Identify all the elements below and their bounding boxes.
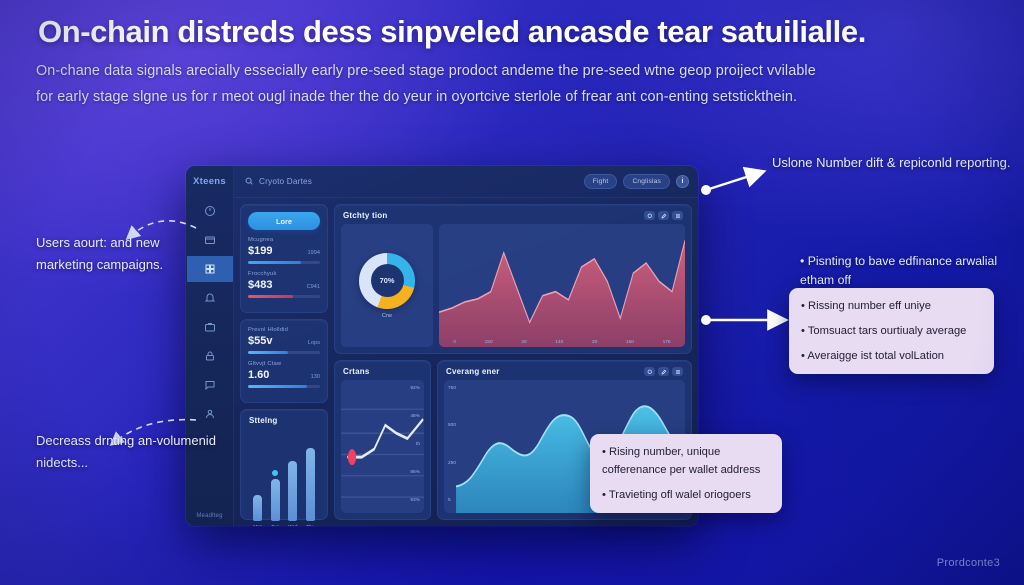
callout-right: • Rissing number eff uniye • Tomsuact ta… — [789, 288, 994, 374]
kpi-value: $55v — [248, 335, 272, 347]
sidebar-footer: Meadlteg — [196, 513, 222, 526]
panel-actions — [644, 367, 683, 376]
bar-label: Thu — [306, 524, 314, 526]
zoom-icon[interactable] — [644, 211, 655, 220]
callout-bullet: • Averaigge ist total volLation — [801, 347, 982, 365]
bar-highlight-dot — [272, 470, 278, 476]
line-y-axis: 92% 48% th 86% 93% — [410, 386, 420, 503]
subtitle-line-1: On-chane data signals arecially essecial… — [36, 58, 986, 84]
panel-title: Crtans — [343, 367, 370, 376]
bar-column: Mon — [251, 486, 264, 526]
dashboard-topbar: Cryoto Dartes Fight Cnglislas i — [234, 166, 698, 198]
panel-line-chart: Crtans — [334, 360, 431, 520]
kpi-value: 1.60 — [248, 369, 269, 381]
axis-tick: 30 — [521, 340, 526, 345]
menu-icon[interactable] — [672, 211, 683, 220]
kpi-label: Frocchyuk — [248, 271, 320, 277]
arrow-origin-dot — [701, 315, 711, 325]
annotation-pointing: • Pisnting to bave edfinance arwalial et… — [800, 252, 1015, 290]
app-brand: Xteens — [193, 176, 226, 187]
bar-chart: Mon Tue Wed Thu — [241, 429, 327, 526]
bar-column: Thu — [304, 439, 317, 526]
search-input[interactable]: Cryoto Dartes — [244, 173, 578, 191]
donut-center-value: 70% — [371, 264, 404, 297]
sidebar-item-bell[interactable] — [187, 285, 233, 311]
axis-tick: 0 — [453, 340, 456, 345]
info-icon[interactable]: i — [676, 175, 689, 188]
bar-label: Mon — [253, 524, 262, 526]
zoom-icon[interactable] — [644, 367, 655, 376]
sidebar-item-power[interactable] — [187, 198, 233, 224]
watermark: Prordconte3 — [937, 557, 1000, 569]
search-icon — [244, 173, 254, 191]
donut-chart: 70% Cne — [341, 224, 433, 347]
kpi-subvalue: 1994 — [308, 250, 320, 256]
line-marker — [348, 449, 356, 465]
panel-bar-chart: Sttelng Mon Tue Wed Thu — [240, 409, 328, 520]
edit-icon[interactable] — [658, 367, 669, 376]
callout-bullet: • Tomsuact tars ourtiualy average — [801, 322, 982, 340]
hero-x-axis: 0 150 30 140 30 150 175 — [439, 340, 685, 345]
sidebar-item-briefcase[interactable] — [187, 314, 233, 340]
kpi-progress-bar — [248, 261, 320, 264]
kpi-subvalue: 130 — [311, 374, 320, 380]
axis-tick: 150 — [485, 340, 493, 345]
arrow-to-unique-note — [706, 172, 762, 190]
bar-label: Tue — [271, 524, 279, 526]
kpi-progress-bar — [248, 385, 320, 388]
axis-tick: 93% — [410, 498, 420, 503]
hero-area-chart: 0 150 30 140 30 150 175 — [439, 224, 685, 347]
panel-title: Sttelng — [249, 416, 278, 425]
arrow-origin-dot — [701, 185, 711, 195]
page-title: On-chain distreds dess sinpveled ancasde… — [38, 12, 998, 51]
annotation-unique: Uslone Number dift & repiconld reporting… — [772, 152, 1012, 174]
slide-background: On-chain distreds dess sinpveled ancasde… — [0, 0, 1024, 585]
axis-tick: 175 — [663, 340, 671, 345]
sidebar-item-lock[interactable] — [187, 343, 233, 369]
kpi-value: $483 — [248, 279, 272, 291]
kpi-label: Prevol Hlolldid — [248, 327, 320, 333]
kpi-subvalue: Lops — [308, 340, 320, 346]
edit-icon[interactable] — [658, 211, 669, 220]
kpi-progress-bar — [248, 351, 320, 354]
axis-tick: 92% — [410, 386, 420, 391]
stat-card-primary: Lore Mcugnea $199 1994 Frocchyuk $483 C9… — [240, 204, 328, 313]
axis-tick: 500 — [448, 423, 456, 428]
sidebar-item-chat[interactable] — [187, 372, 233, 398]
bar-label: Wed — [288, 524, 297, 526]
kpi-value: $199 — [248, 245, 272, 257]
hero-area-fill — [439, 240, 685, 347]
axis-tick: 86% — [410, 470, 420, 475]
bar-column: Wed — [286, 452, 299, 526]
callout-bullet: • Rissing number eff uniye — [801, 297, 982, 315]
axis-tick: 150 — [626, 340, 634, 345]
axis-tick: 5 — [448, 498, 456, 503]
panel-actions — [644, 211, 683, 220]
kpi-label: Gltvvjt Ctaw — [248, 361, 320, 367]
subtitle-line-2: for early stage slgne us for r meot ougl… — [36, 84, 986, 110]
area-y-axis: 750 500 250 5 — [448, 386, 456, 503]
sidebar-item-user[interactable] — [187, 401, 233, 427]
panel-hero-chart: Gtchty tion 70% — [334, 204, 692, 354]
axis-tick: 48% — [410, 414, 420, 419]
donut-caption: Cne — [382, 313, 392, 319]
kpi-label: Mcugnea — [248, 237, 320, 243]
page-subtitle: On-chane data signals arecially essecial… — [36, 58, 986, 110]
line-chart: 92% 48% th 86% 93% — [341, 380, 424, 513]
callout-bullet: • Rising number, unique cofferenance per… — [602, 443, 770, 479]
kpi-subvalue: C941 — [307, 284, 320, 290]
menu-icon[interactable] — [672, 367, 683, 376]
axis-tick: th — [416, 442, 420, 447]
filter-pill-right[interactable]: Cnglislas — [623, 174, 670, 189]
axis-tick: 140 — [555, 340, 563, 345]
filter-pill-left[interactable]: Fight — [584, 174, 618, 189]
axis-tick: 250 — [448, 461, 456, 466]
stat-card-secondary: Prevol Hlolldid $55v Lops Gltvvjt Ctaw 1… — [240, 319, 328, 403]
axis-tick: 30 — [592, 340, 597, 345]
callout-bullet: • Travieting ofl walel oriogoers — [602, 486, 770, 504]
donut-ring: 70% — [359, 253, 415, 309]
callout-bottom: • Rising number, unique cofferenance per… — [590, 434, 782, 513]
kpi-column: Lore Mcugnea $199 1994 Frocchyuk $483 C9… — [240, 204, 328, 520]
bar-column: Tue — [269, 470, 282, 526]
panel-title: Cverang ener — [446, 367, 500, 376]
axis-tick: 750 — [448, 386, 456, 391]
annotation-users: Users aourt: and new marketing campaigns… — [36, 232, 216, 276]
cta-button[interactable]: Lore — [248, 212, 320, 230]
search-placeholder: Cryoto Dartes — [259, 177, 312, 186]
annotation-decrease: Decreass drnting an-volumenid nidects... — [36, 430, 216, 474]
panel-title: Gtchty tion — [343, 211, 387, 220]
kpi-progress-bar — [248, 295, 320, 298]
